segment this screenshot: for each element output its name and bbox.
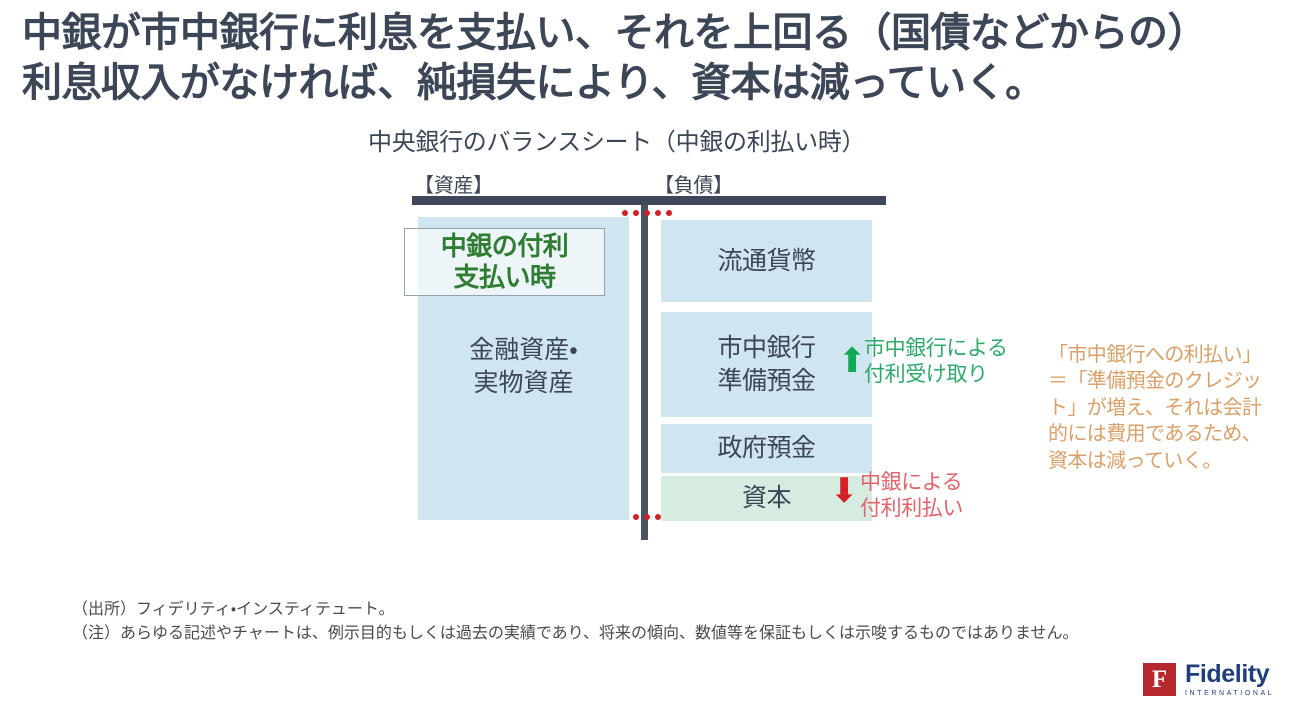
chart-caption: 中央銀行のバランスシート（中銀の利払い時） bbox=[368, 122, 968, 157]
down-arrow-icon: ⬇ bbox=[830, 474, 859, 508]
fidelity-logo: F Fidelity INTERNATIONAL bbox=[1143, 662, 1274, 697]
assets-column-header: 【資産】 bbox=[414, 169, 493, 198]
connector-dots-top bbox=[622, 210, 672, 216]
dot bbox=[633, 210, 639, 216]
side-explanation-note: 「市中銀行への利払い」＝「準備預金のクレジット」が増え、それは会計的には費用であ… bbox=[1048, 342, 1273, 474]
liabilities-column-header: 【負債】 bbox=[654, 169, 733, 198]
dot bbox=[655, 210, 661, 216]
fidelity-logo-subtitle: INTERNATIONAL bbox=[1185, 690, 1274, 697]
dot bbox=[633, 514, 639, 520]
fidelity-logo-wordmark: Fidelity INTERNATIONAL bbox=[1185, 662, 1274, 697]
payment-timing-callout-text: 中銀の付利 支払い時 bbox=[441, 231, 569, 292]
dot bbox=[644, 514, 650, 520]
dot bbox=[666, 210, 672, 216]
inflow-annotation: 市中銀行による 付利受け取り bbox=[864, 336, 1008, 387]
outflow-annotation: 中銀による 付利利払い bbox=[860, 470, 963, 521]
footnotes: （出所）フィデリティ・インスティテュート。 （注）あらゆる記述やチャートは、例示… bbox=[72, 598, 1252, 646]
fidelity-logo-name: Fidelity bbox=[1185, 662, 1274, 687]
liability-block-government-deposits: 政府預金 bbox=[661, 424, 872, 473]
slide-canvas: 中銀が市中銀行に利息を支払い、それを上回る（国債などからの） 利息収入がなければ… bbox=[0, 0, 1290, 710]
fidelity-logo-mark-icon: F bbox=[1143, 663, 1176, 696]
asset-block-label: 金融資産・ 実物資産 bbox=[418, 334, 629, 400]
dot bbox=[644, 210, 650, 216]
t-account-top-rule bbox=[412, 196, 886, 205]
dot bbox=[622, 210, 628, 216]
page-title: 中銀が市中銀行に利息を支払い、それを上回る（国債などからの） 利息収入がなければ… bbox=[22, 8, 1272, 108]
payment-timing-callout: 中銀の付利 支払い時 bbox=[404, 228, 605, 296]
footnote-note: （注）あらゆる記述やチャートは、例示目的もしくは過去の実績であり、将来の傾向、数… bbox=[72, 622, 1252, 646]
up-arrow-icon: ⬆ bbox=[838, 344, 867, 378]
liability-block-currency: 流通貨幣 bbox=[661, 220, 872, 302]
footnote-source: （出所）フィデリティ・インスティテュート。 bbox=[72, 598, 1252, 622]
t-account-vertical-divider bbox=[641, 205, 648, 540]
